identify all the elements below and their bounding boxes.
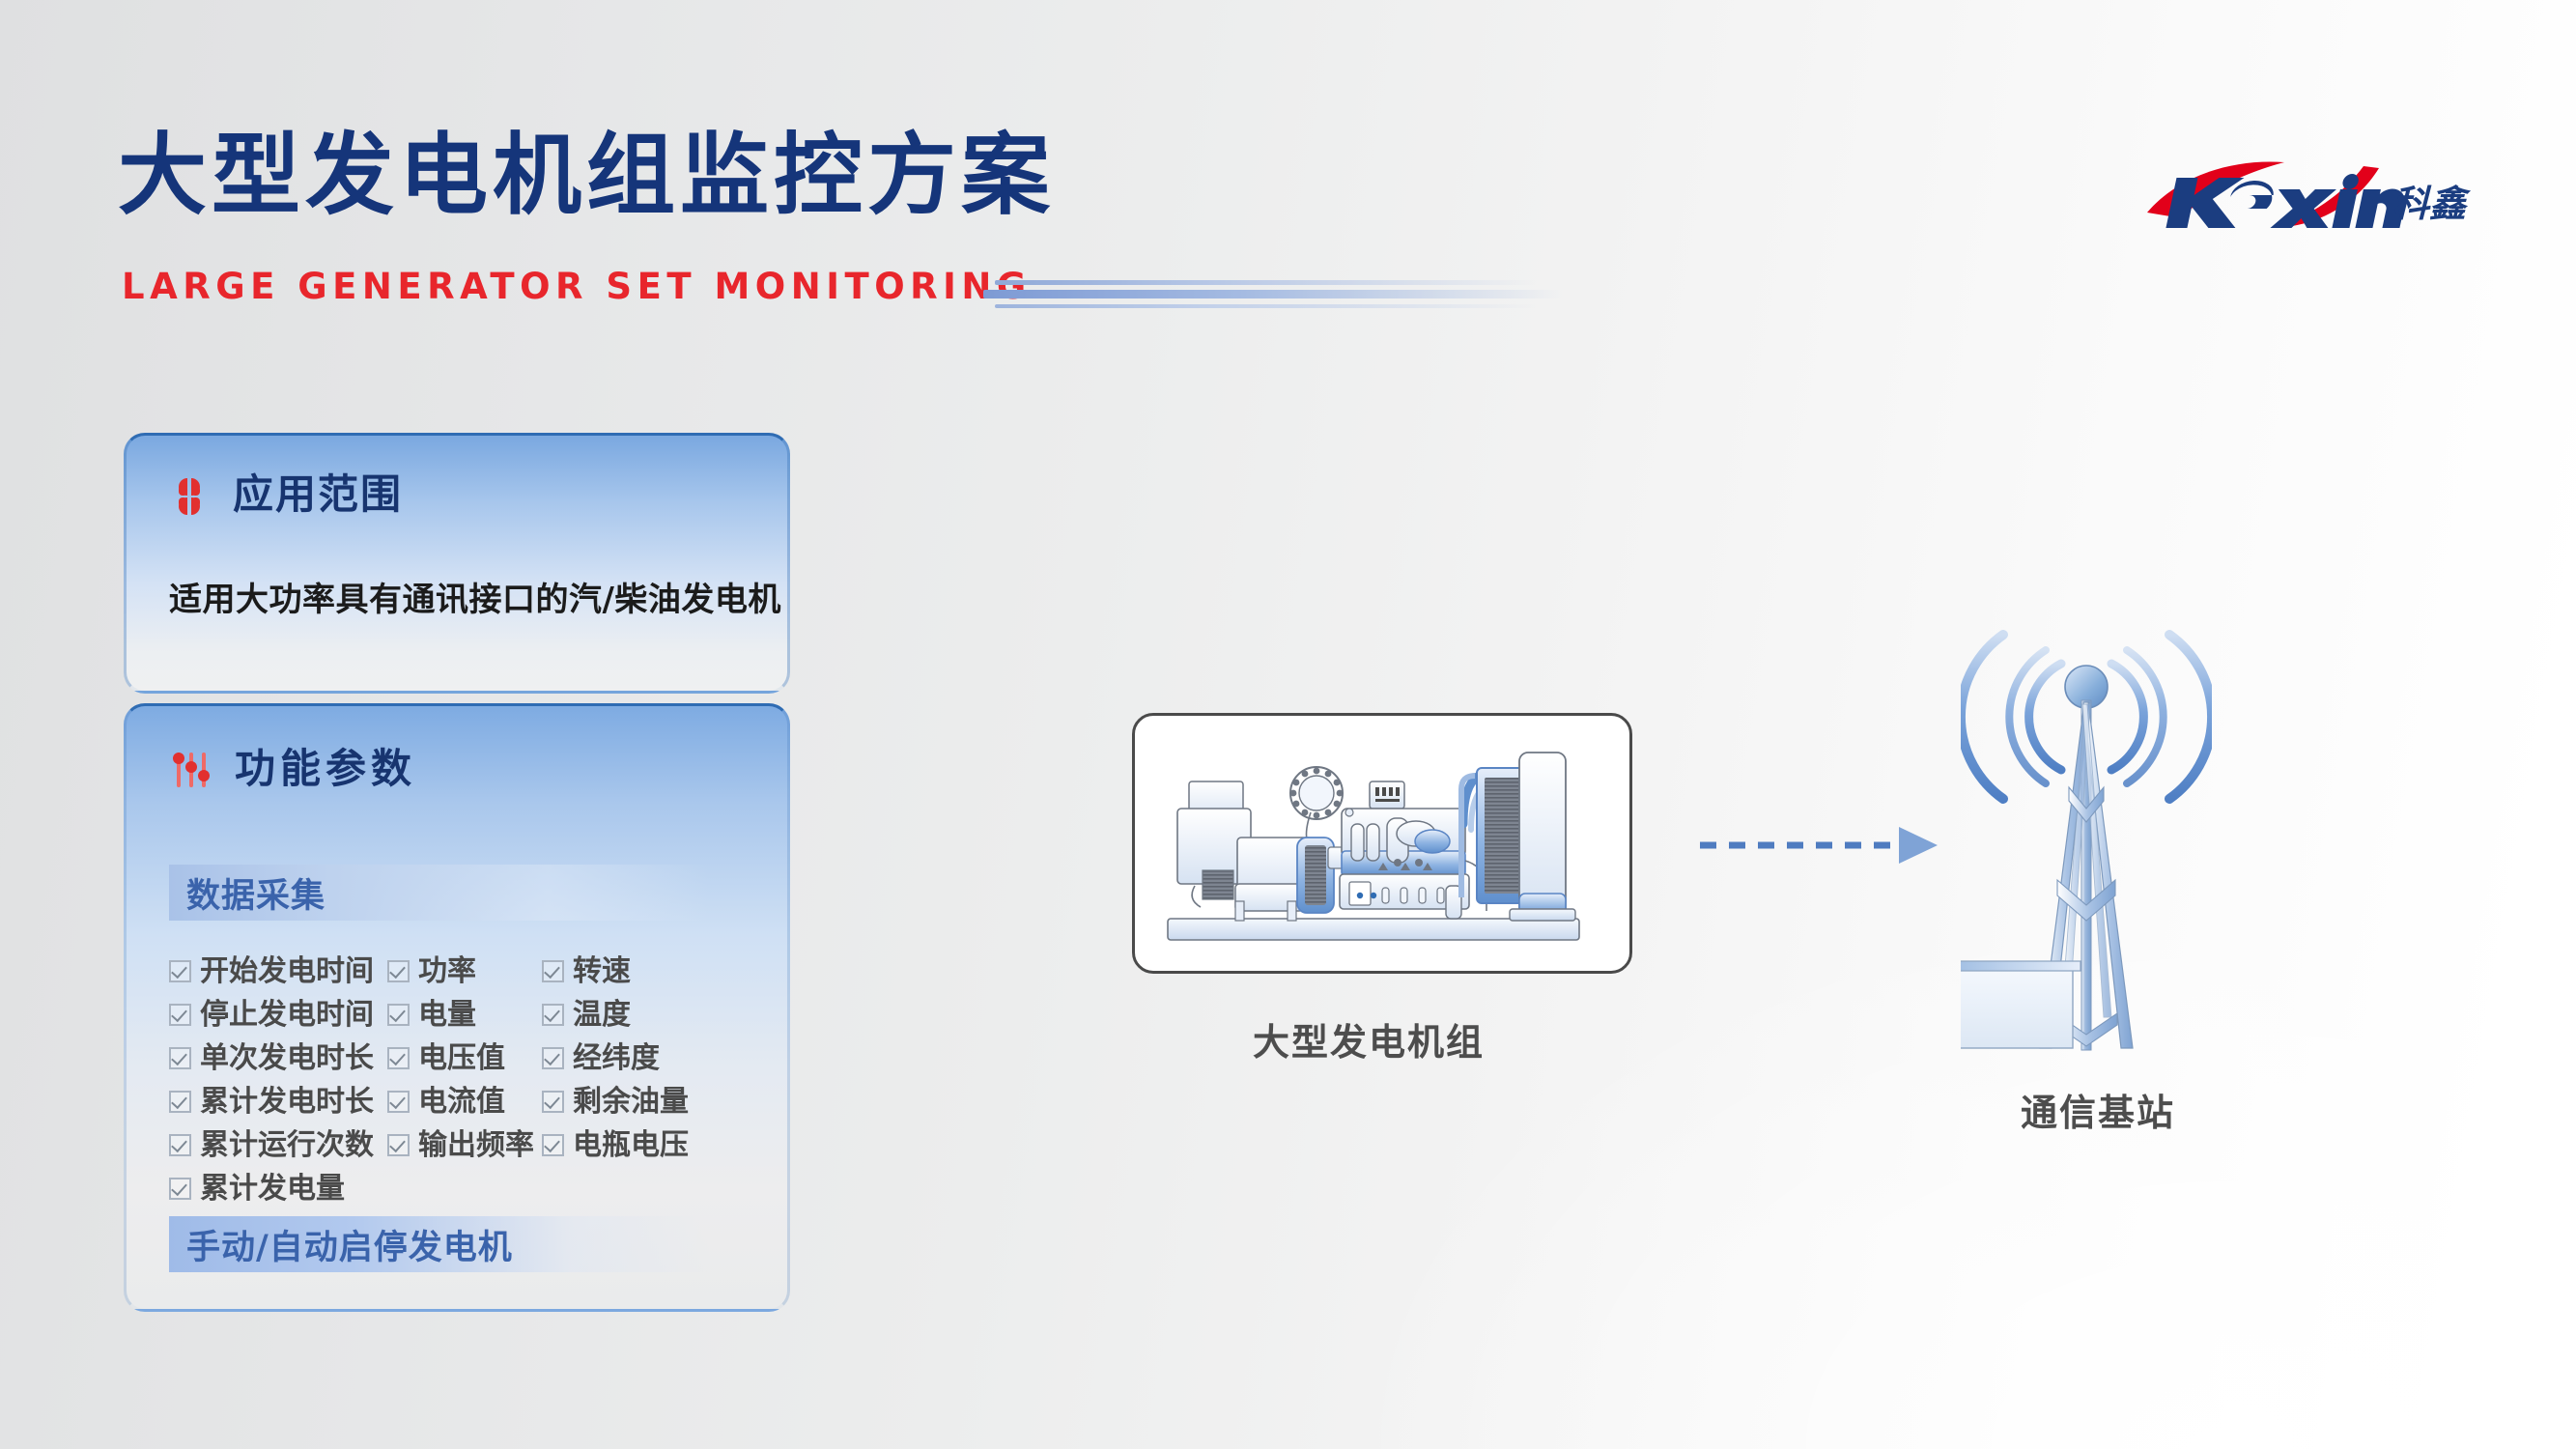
parameter-item[interactable]: 累计运行次数 [169,1123,387,1167]
checkbox-checked-icon[interactable] [387,1091,410,1113]
parameter-label: 累计发电时长 [200,1080,374,1123]
parameter-label: 停止发电时间 [200,993,374,1037]
checkbox-checked-icon[interactable] [169,1134,191,1156]
parameter-label: 电流值 [418,1080,505,1123]
checkbox-checked-icon[interactable] [169,960,191,982]
parameter-checkbox-grid: 开始发电时间 功率 转速 停止发电时间 电量 温度 单次发电时长 电压值 经纬度… [169,950,749,1210]
svg-text:科鑫: 科鑫 [2392,183,2472,225]
brand-logo: 科鑫 [2139,153,2477,240]
parameter-item[interactable]: 经纬度 [542,1037,749,1080]
parameter-label: 电压值 [418,1037,505,1080]
section-header-manual-auto-control: 手动/自动启停发电机 [169,1216,710,1272]
slide-header: 大型发电机组监控方案 LARGE GENERATOR SET MONITORIN… [0,0,2576,328]
parameter-label: 累计发电量 [200,1167,345,1210]
section-header-manual-auto-label: 手动/自动启停发电机 [186,1220,513,1269]
slide-root: 大型发电机组监控方案 LARGE GENERATOR SET MONITORIN… [0,0,2576,1449]
parameter-item[interactable]: 电压值 [387,1037,542,1080]
page-subtitle: LARGE GENERATOR SET MONITORING [122,269,1032,304]
generator-set-image-card [1132,713,1632,974]
parameter-label: 累计运行次数 [200,1123,374,1167]
parameter-item[interactable]: 输出频率 [387,1123,542,1167]
section-header-data-collection-label: 数据采集 [186,868,326,918]
sliders-icon [169,747,213,791]
rule-line-top [995,280,1536,285]
cell-tower-icon [1961,594,2212,1058]
parameter-item[interactable]: 剩余油量 [542,1080,749,1123]
parameter-label: 电瓶电压 [573,1123,689,1167]
rule-line-middle [983,290,1563,298]
parameter-label: 转速 [573,950,631,993]
parameter-label: 输出频率 [418,1123,534,1167]
title-decorative-rules [995,276,1574,311]
page-title: 大型发电机组监控方案 [118,131,1055,220]
parameter-item[interactable]: 累计发电量 [169,1167,387,1210]
panel-application-scope: 应用范围 适用大功率具有通讯接口的汽/柴油发电机 [124,433,790,694]
panel-scope-body: 适用大功率具有通讯接口的汽/柴油发电机 [169,573,781,620]
checkbox-checked-icon[interactable] [387,960,410,982]
parameter-item[interactable]: 功率 [387,950,542,993]
parameter-label: 温度 [573,993,631,1037]
dashed-arrow-right-icon [1696,823,1947,867]
panel-scope-header: 应用范围 [167,472,403,517]
parameter-label: 电量 [418,993,476,1037]
cell-tower-graphic [1961,594,2212,1058]
panel-function-header: 功能参数 [169,747,416,791]
checkbox-checked-icon[interactable] [169,1178,191,1200]
parameter-label: 功率 [418,950,476,993]
checkbox-checked-icon[interactable] [169,1004,191,1026]
section-header-data-collection: 数据采集 [169,865,710,921]
parameter-item[interactable]: 温度 [542,993,749,1037]
checkbox-checked-icon[interactable] [542,1091,564,1113]
tower-caption: 通信基站 [2021,1094,2175,1131]
checkbox-checked-icon[interactable] [169,1047,191,1069]
checkbox-checked-icon[interactable] [169,1091,191,1113]
parameter-item[interactable]: 转速 [542,950,749,993]
checkbox-checked-icon[interactable] [387,1004,410,1026]
panel-function-title: 功能参数 [235,749,416,789]
parameter-label: 开始发电时间 [200,950,374,993]
checkbox-checked-icon[interactable] [387,1134,410,1156]
generator-set-icon [1135,716,1629,971]
panel-function-parameters: 功能参数 数据采集 开始发电时间 功率 转速 停止发电时间 电量 温度 单次发电… [124,703,790,1312]
checkbox-checked-icon[interactable] [387,1047,410,1069]
parameter-label: 经纬度 [573,1037,660,1080]
parameter-item[interactable]: 单次发电时长 [169,1037,387,1080]
four-petal-flower-icon [167,472,212,517]
parameter-item[interactable]: 停止发电时间 [169,993,387,1037]
generator-caption: 大型发电机组 [1253,1024,1485,1061]
checkbox-checked-icon[interactable] [542,960,564,982]
parameter-item[interactable]: 电瓶电压 [542,1123,749,1167]
parameter-item[interactable]: 电量 [387,993,542,1037]
checkbox-checked-icon[interactable] [542,1134,564,1156]
parameter-item[interactable]: 电流值 [387,1080,542,1123]
parameter-item[interactable]: 开始发电时间 [169,950,387,993]
data-flow-arrow [1696,823,1947,867]
rule-line-bottom [995,304,1536,308]
parameter-label: 单次发电时长 [200,1037,374,1080]
parameter-label: 剩余油量 [573,1080,689,1123]
checkbox-checked-icon[interactable] [542,1047,564,1069]
parameter-item[interactable]: 累计发电时长 [169,1080,387,1123]
checkbox-checked-icon[interactable] [542,1004,564,1026]
panel-scope-title: 应用范围 [233,474,403,515]
